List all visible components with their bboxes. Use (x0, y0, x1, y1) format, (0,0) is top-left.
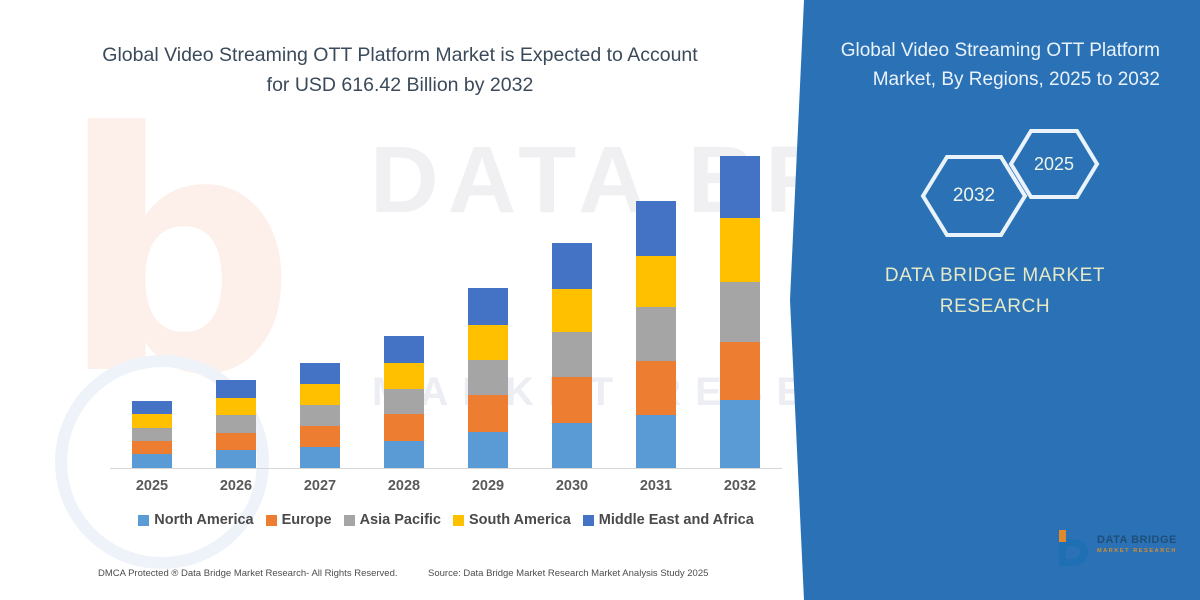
bar-segment (216, 380, 256, 398)
brand-name: DATA BRIDGE MARKET RESEARCH (820, 260, 1170, 322)
bar-segment (720, 342, 760, 400)
x-axis-tick-label: 2031 (614, 478, 698, 494)
hexagon-start-year-label: 2025 (1034, 154, 1074, 175)
bar-segment (216, 433, 256, 451)
legend-swatch-icon (453, 515, 464, 526)
stacked-bar (468, 288, 508, 468)
bar-segment (384, 441, 424, 468)
bar-segment (636, 361, 676, 416)
bar-column (194, 140, 278, 468)
legend-swatch-icon (583, 515, 594, 526)
stacked-bar (132, 401, 172, 468)
side-panel-title: Global Video Streaming OTT Platform Mark… (830, 36, 1160, 94)
chart-title: Global Video Streaming OTT Platform Mark… (90, 40, 710, 100)
bar-segment (300, 384, 340, 405)
bar-segment (720, 400, 760, 468)
stacked-bar (300, 363, 340, 468)
stacked-bar (216, 380, 256, 468)
hexagon-start-year: 2025 (1008, 128, 1100, 200)
company-logo: DATA BRIDGE MARKET RESEARCH (1055, 528, 1185, 570)
bridge-logo-icon (1055, 528, 1091, 568)
legend-swatch-icon (344, 515, 355, 526)
bar-segment (552, 289, 592, 332)
bar-column (362, 140, 446, 468)
bar-segment (132, 401, 172, 414)
legend-label: South America (469, 512, 571, 528)
stacked-bar-chart (110, 140, 782, 468)
logo-text: DATA BRIDGE MARKET RESEARCH (1097, 534, 1177, 554)
bar-segment (384, 363, 424, 389)
bar-segment (384, 414, 424, 441)
bar-segment (468, 432, 508, 468)
bar-segment (552, 332, 592, 377)
bar-column (446, 140, 530, 468)
bar-column (698, 140, 782, 468)
legend-swatch-icon (266, 515, 277, 526)
hexagon-end-year-label: 2032 (953, 185, 995, 207)
legend-item[interactable]: North America (138, 512, 253, 528)
bar-segment (300, 426, 340, 447)
legend-item[interactable]: Asia Pacific (344, 512, 441, 528)
bar-segment (636, 415, 676, 468)
bar-segment (468, 325, 508, 360)
bar-segment (132, 414, 172, 427)
legend-item[interactable]: Middle East and Africa (583, 512, 754, 528)
x-axis-tick-label: 2026 (194, 478, 278, 494)
bar-column (110, 140, 194, 468)
bar-segment (216, 450, 256, 468)
stacked-bar (384, 336, 424, 468)
bar-segment (636, 256, 676, 307)
bar-segment (720, 218, 760, 282)
legend-label: Asia Pacific (360, 512, 441, 528)
stacked-bar (720, 156, 760, 468)
x-axis-tick-label: 2027 (278, 478, 362, 494)
footer-source: Source: Data Bridge Market Research Mark… (428, 568, 708, 579)
bar-segment (468, 288, 508, 325)
legend-item[interactable]: South America (453, 512, 571, 528)
bar-segment (636, 307, 676, 361)
chart-legend: North AmericaEuropeAsia PacificSouth Ame… (110, 512, 782, 528)
bar-column (530, 140, 614, 468)
hexagon-group: 2032 2025 (920, 128, 1140, 238)
bar-segment (552, 423, 592, 468)
bar-segment (720, 282, 760, 342)
bar-segment (132, 454, 172, 468)
x-axis-tick-label: 2030 (530, 478, 614, 494)
bar-column (614, 140, 698, 468)
bar-segment (552, 243, 592, 289)
legend-item[interactable]: Europe (266, 512, 332, 528)
stacked-bar (636, 201, 676, 468)
legend-swatch-icon (138, 515, 149, 526)
bar-segment (216, 415, 256, 432)
bar-segment (468, 360, 508, 395)
footer-copyright: DMCA Protected ® Data Bridge Market Rese… (98, 568, 398, 579)
bar-segment (552, 377, 592, 423)
x-axis-labels: 20252026202720282029203020312032 (110, 478, 782, 494)
bar-segment (720, 156, 760, 218)
bar-segment (300, 405, 340, 426)
bar-segment (132, 441, 172, 455)
bar-segment (300, 363, 340, 384)
footer: DMCA Protected ® Data Bridge Market Rese… (0, 568, 800, 590)
x-axis-tick-label: 2028 (362, 478, 446, 494)
bar-segment (132, 428, 172, 441)
brand-line-2: RESEARCH (820, 291, 1170, 322)
side-panel: Global Video Streaming OTT Platform Mark… (790, 0, 1200, 600)
bar-segment (216, 398, 256, 415)
chart-panel: Global Video Streaming OTT Platform Mark… (0, 0, 800, 600)
bar-segment (636, 201, 676, 256)
logo-company-name: DATA BRIDGE (1097, 534, 1177, 546)
bar-segment (468, 395, 508, 431)
bar-segment (384, 336, 424, 363)
logo-tagline: MARKET RESEARCH (1097, 548, 1177, 554)
legend-label: North America (154, 512, 253, 528)
x-axis-tick-label: 2029 (446, 478, 530, 494)
bar-segment (384, 389, 424, 415)
x-axis-tick-label: 2025 (110, 478, 194, 494)
stacked-bar (552, 243, 592, 468)
legend-label: Europe (282, 512, 332, 528)
bar-column (278, 140, 362, 468)
x-axis-line (110, 468, 782, 469)
legend-label: Middle East and Africa (599, 512, 754, 528)
x-axis-tick-label: 2032 (698, 478, 782, 494)
bar-segment (300, 447, 340, 468)
brand-line-1: DATA BRIDGE MARKET (820, 260, 1170, 291)
